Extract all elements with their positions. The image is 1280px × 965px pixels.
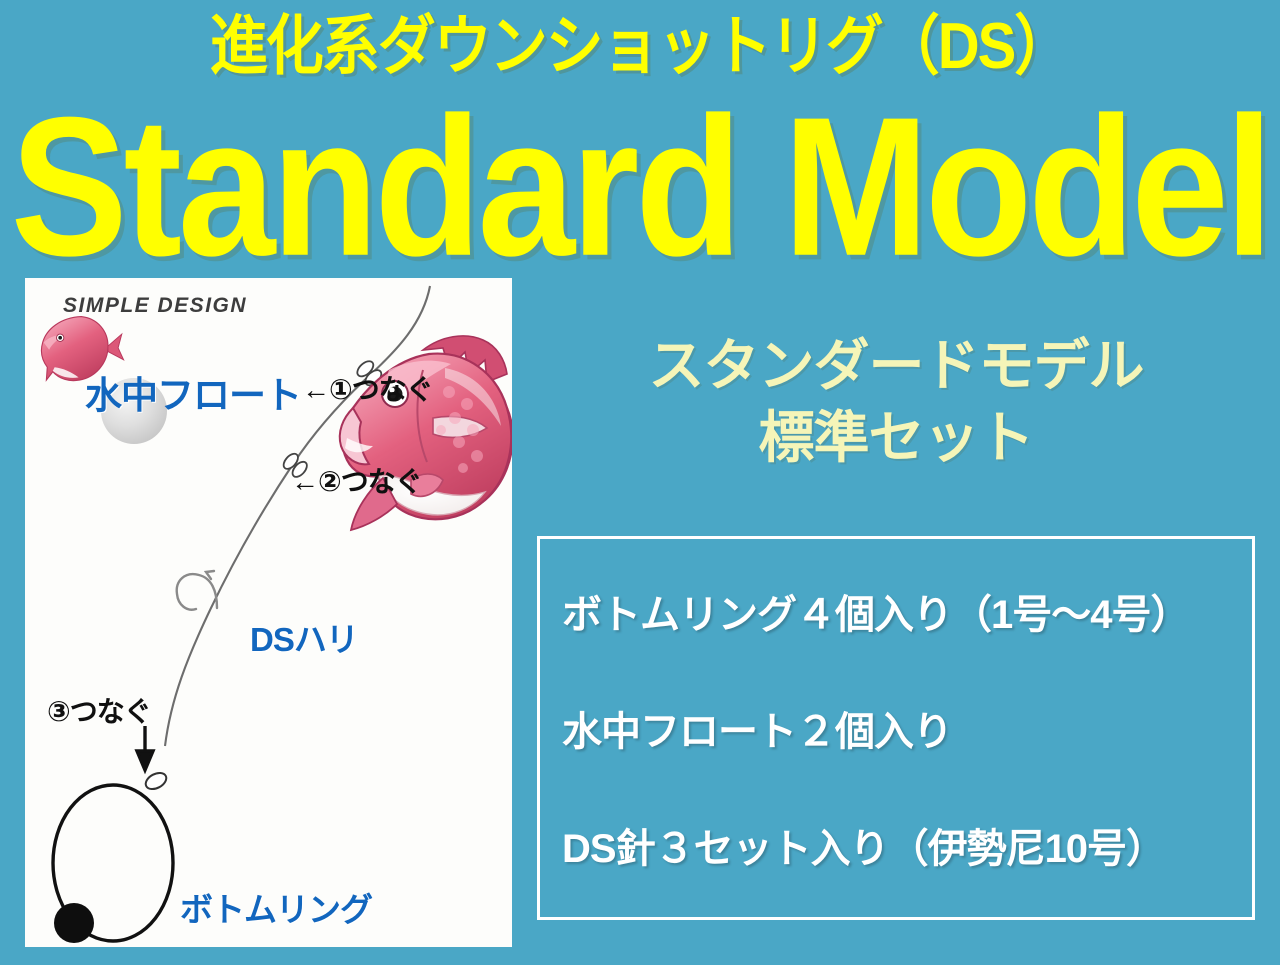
main-line [165, 286, 430, 746]
ds-hook-shape [177, 571, 217, 610]
product-subtitle: スタンダードモデル 標準セット [537, 330, 1255, 473]
rig-diagram-panel: SIMPLE DESIGN 水中フロート DSハリ ボトムリング ←①つなぐ ←… [25, 278, 512, 947]
callout-connect-1: ←①つなぐ [302, 368, 433, 408]
callout-connect-3: ③つなぐ [47, 690, 151, 730]
bottom-ring-weight [54, 903, 94, 943]
callout-connect-2: ←②つなぐ [291, 460, 422, 500]
poster-kicker: 進化系ダウンショットリグ（DS） [0, 14, 1280, 79]
label-bottom-ring: ボトムリング [180, 883, 372, 931]
subtitle-line-1: スタンダードモデル [537, 330, 1255, 402]
spec-list-box: ボトムリング４個入り（1号〜4号） 水中フロート２個入り DS針３セット入り（伊… [537, 536, 1255, 920]
simple-design-heading: SIMPLE DESIGN [63, 294, 247, 318]
product-poster: 進化系ダウンショットリグ（DS） Standard Model [0, 0, 1280, 965]
bottom-ring-eye [143, 770, 169, 793]
spec-item-bottom-ring: ボトムリング４個入り（1号〜4号） [562, 582, 1252, 640]
callout-3-arrow [137, 726, 153, 770]
subtitle-line-2: 標準セット [537, 402, 1255, 474]
spec-item-hook: DS針３セット入り（伊勢尼10号） [562, 816, 1252, 874]
label-ds-hook: DSハリ [250, 613, 358, 661]
label-underwater-float: 水中フロート [85, 365, 301, 419]
poster-main-title: Standard Model [0, 88, 1280, 286]
spec-item-float: 水中フロート２個入り [562, 699, 1252, 757]
